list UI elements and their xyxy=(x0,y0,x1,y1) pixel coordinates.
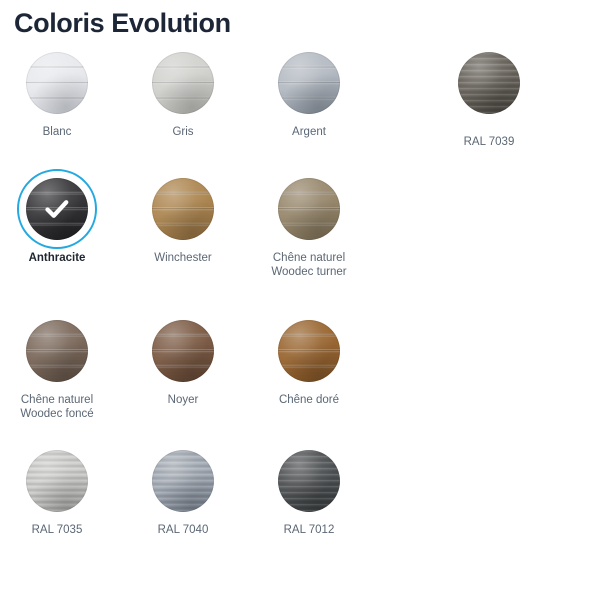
slat-lines xyxy=(26,450,88,512)
wood-grain-texture xyxy=(152,178,214,240)
swatch-label: Chêne naturel Woodec foncé xyxy=(1,393,113,421)
swatch-color-disc[interactable] xyxy=(278,52,340,114)
swatch-blanc[interactable]: Blanc xyxy=(1,52,113,139)
swatch-label: RAL 7040 xyxy=(127,523,239,537)
swatch-color-disc[interactable] xyxy=(26,450,88,512)
disc-edge xyxy=(152,52,214,114)
slat-lines xyxy=(26,320,88,382)
check-icon xyxy=(26,178,88,240)
disc-sheen xyxy=(26,320,88,382)
swatch-label: RAL 7039 xyxy=(433,135,545,149)
swatch-color-disc[interactable] xyxy=(26,320,88,382)
slat-lines xyxy=(152,450,214,512)
disc-sheen xyxy=(26,450,88,512)
disc-sheen xyxy=(278,320,340,382)
swatch-gris[interactable]: Gris xyxy=(127,52,239,139)
disc-edge xyxy=(152,178,214,240)
swatch-ral-7040[interactable]: RAL 7040 xyxy=(127,450,239,537)
swatch-disc-wrap xyxy=(152,450,214,512)
disc-sheen xyxy=(278,450,340,512)
swatch-noyer[interactable]: Noyer xyxy=(127,320,239,407)
swatch-label: Winchester xyxy=(127,251,239,265)
disc-edge xyxy=(278,178,340,240)
disc-sheen xyxy=(458,52,520,114)
disc-edge xyxy=(458,52,520,114)
slat-lines xyxy=(278,450,340,512)
disc-sheen xyxy=(278,52,340,114)
wood-grain-texture xyxy=(278,178,340,240)
swatch-color-disc[interactable] xyxy=(278,178,340,240)
swatch-label: RAL 7035 xyxy=(1,523,113,537)
swatch-color-disc[interactable] xyxy=(26,52,88,114)
swatch-color-disc[interactable] xyxy=(152,320,214,382)
swatch-disc-wrap xyxy=(278,450,340,512)
swatch-disc-wrap xyxy=(26,52,88,114)
disc-sheen xyxy=(152,178,214,240)
swatch-color-disc[interactable] xyxy=(152,450,214,512)
swatch-color-disc[interactable] xyxy=(152,52,214,114)
swatch-color-disc[interactable] xyxy=(458,52,520,114)
swatch-label: Argent xyxy=(253,125,365,139)
swatch-disc-wrap xyxy=(458,52,520,114)
swatch-label: Chêne naturel Woodec turner xyxy=(253,251,365,279)
swatch-label: Chêne doré xyxy=(253,393,365,407)
disc-edge xyxy=(26,450,88,512)
disc-sheen xyxy=(152,320,214,382)
swatch-ral-7012[interactable]: RAL 7012 xyxy=(253,450,365,537)
swatch-ral-7035[interactable]: RAL 7035 xyxy=(1,450,113,537)
disc-sheen xyxy=(278,178,340,240)
swatch-ral-7039[interactable]: RAL 7039 xyxy=(433,52,545,149)
swatch-color-disc[interactable] xyxy=(278,320,340,382)
swatch-chene-naturel-woodec-turner[interactable]: Chêne naturel Woodec turner xyxy=(253,178,365,279)
swatch-disc-wrap xyxy=(152,52,214,114)
swatch-disc-wrap xyxy=(152,178,214,240)
swatch-chene-dore[interactable]: Chêne doré xyxy=(253,320,365,407)
swatch-disc-wrap xyxy=(152,320,214,382)
swatch-color-disc[interactable] xyxy=(152,178,214,240)
swatch-label: Noyer xyxy=(127,393,239,407)
swatch-anthracite[interactable]: Anthracite xyxy=(1,178,113,265)
disc-edge xyxy=(152,450,214,512)
swatch-winchester[interactable]: Winchester xyxy=(127,178,239,265)
disc-edge xyxy=(278,450,340,512)
disc-edge xyxy=(152,320,214,382)
slat-lines xyxy=(278,320,340,382)
disc-sheen xyxy=(152,52,214,114)
disc-sheen xyxy=(26,52,88,114)
disc-edge xyxy=(26,52,88,114)
swatch-label: Gris xyxy=(127,125,239,139)
swatch-disc-wrap xyxy=(278,52,340,114)
slat-lines xyxy=(458,52,520,114)
slat-lines xyxy=(152,52,214,114)
swatch-disc-wrap xyxy=(26,320,88,382)
disc-sheen xyxy=(152,450,214,512)
slat-lines xyxy=(152,178,214,240)
wood-grain-texture xyxy=(278,320,340,382)
swatch-disc-wrap xyxy=(26,450,88,512)
swatch-label: Anthracite xyxy=(1,251,113,265)
disc-edge xyxy=(26,320,88,382)
disc-edge xyxy=(278,320,340,382)
wood-grain-texture xyxy=(152,320,214,382)
swatch-chene-naturel-woodec-fonce[interactable]: Chêne naturel Woodec foncé xyxy=(1,320,113,421)
swatch-label: RAL 7012 xyxy=(253,523,365,537)
swatch-label: Blanc xyxy=(1,125,113,139)
slat-lines xyxy=(152,320,214,382)
swatch-disc-wrap xyxy=(26,178,88,240)
slat-lines xyxy=(278,52,340,114)
swatch-argent[interactable]: Argent xyxy=(253,52,365,139)
swatch-disc-wrap xyxy=(278,320,340,382)
disc-edge xyxy=(278,52,340,114)
swatch-disc-wrap xyxy=(278,178,340,240)
slat-lines xyxy=(26,52,88,114)
wood-grain-texture xyxy=(26,320,88,382)
page-title: Coloris Evolution xyxy=(14,8,231,39)
slat-lines xyxy=(278,178,340,240)
swatch-color-disc[interactable] xyxy=(278,450,340,512)
